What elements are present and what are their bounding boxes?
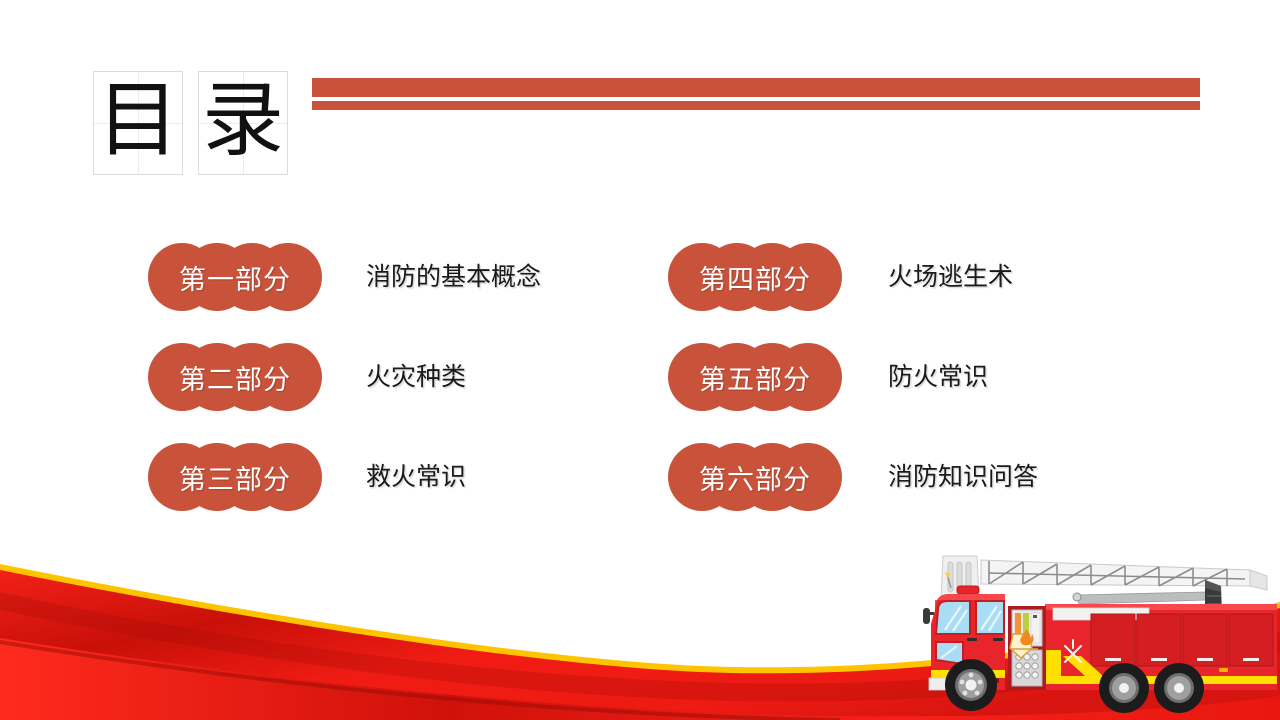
fire-truck-illustration [905,552,1280,720]
section-badge-3[interactable]: 第三部分 [148,443,322,511]
page-title: 目 录 [93,71,288,175]
toc-row: 第一部分 消防的基本概念 第四部分 火场逃生术 [0,243,1280,343]
section-title-4: 火场逃生术 [888,257,1013,293]
front-wheel [945,659,997,711]
section-badge-label: 第六部分 [699,458,811,497]
toc-item-2[interactable]: 第二部分 火灾种类 [0,343,515,443]
title-char-2: 录 [199,70,287,172]
toc-item-3[interactable]: 第三部分 救火常识 [0,443,515,543]
toc-row: 第二部分 火灾种类 第五部分 防火常识 [0,343,1280,443]
door-window [936,642,963,664]
section-badge-4[interactable]: 第四部分 [668,243,842,311]
section-badge-1[interactable]: 第一部分 [148,243,322,311]
title-rule-thin [312,101,1200,110]
section-title-5: 防火常识 [888,357,988,393]
section-badge-label: 第五部分 [699,358,811,397]
title-char-1: 目 [94,70,182,172]
section-badge-label: 第三部分 [179,458,291,497]
toc-list: 第一部分 消防的基本概念 第四部分 火场逃生术 [0,243,1280,543]
section-badge-label: 第四部分 [699,258,811,297]
siren-light [957,586,979,594]
toc-row: 第三部分 救火常识 第六部分 消防知识问答 [0,443,1280,543]
toc-item-6[interactable]: 第六部分 消防知识问答 [515,443,1035,543]
title-grid-box-1: 目 [93,71,183,175]
title-rule-thick [312,78,1200,97]
rear-wheel-2 [1154,663,1204,713]
side-mirror [923,608,930,624]
toc-item-5[interactable]: 第五部分 防火常识 [515,343,1035,443]
title-grid-box-2: 录 [198,71,288,175]
section-badge-2[interactable]: 第二部分 [148,343,322,411]
section-badge-label: 第二部分 [179,358,291,397]
section-badge-label: 第一部分 [179,258,291,297]
section-title-6: 消防知识问答 [888,457,1038,493]
toc-item-4[interactable]: 第四部分 火场逃生术 [515,243,1035,343]
section-badge-6[interactable]: 第六部分 [668,443,842,511]
section-title-2: 火灾种类 [366,357,466,393]
section-title-3: 救火常识 [366,457,466,493]
toc-item-1[interactable]: 第一部分 消防的基本概念 [0,243,515,343]
section-badge-5[interactable]: 第五部分 [668,343,842,411]
slide-canvas: 目 录 第一部分 消防的基本概念 [0,0,1280,720]
rear-wheel-1 [1099,663,1149,713]
